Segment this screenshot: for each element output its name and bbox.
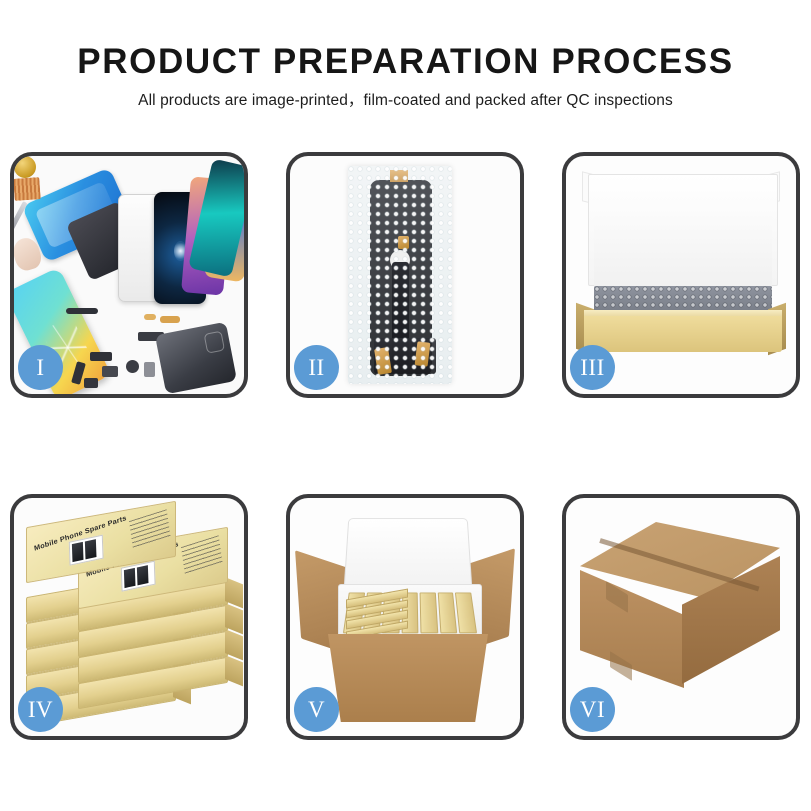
flex-cable-icon	[160, 316, 180, 323]
step-panel-vi: VI	[562, 494, 800, 740]
process-steps-grid: I II	[10, 152, 801, 740]
spec-list-icon	[129, 509, 171, 550]
step-badge-ii: II	[294, 345, 339, 390]
step-panel-i: I	[10, 152, 248, 398]
component-part-icon	[84, 378, 98, 388]
gold-connector-icon	[374, 347, 392, 375]
step-badge-v: V	[294, 687, 339, 732]
step-panel-iii: III	[562, 152, 800, 398]
gold-box-front-icon	[584, 316, 782, 352]
component-part-icon	[90, 352, 112, 361]
step-badge-i: I	[18, 345, 63, 390]
page-subtitle: All products are image-printed，film-coat…	[0, 91, 811, 111]
step-badge-vi: VI	[570, 687, 615, 732]
component-part-icon	[66, 308, 98, 314]
page-title: PRODUCT PREPARATION PROCESS	[0, 42, 811, 82]
spec-list-icon	[181, 535, 223, 576]
gold-connector-icon	[398, 236, 409, 249]
foam-sheet-icon	[594, 214, 772, 290]
carton-body-icon	[328, 634, 488, 722]
gold-connector-icon	[415, 341, 431, 366]
flex-pad-icon	[390, 250, 410, 270]
step-panel-iv: Mobile Phone Spare Parts Mobile Phone Sp…	[10, 494, 248, 740]
tape-strip-icon	[390, 170, 408, 182]
foam-lid-icon	[344, 518, 473, 590]
step-badge-iv: IV	[18, 687, 63, 732]
component-part-icon	[102, 366, 118, 377]
component-part-icon	[144, 362, 155, 377]
flex-cable-icon	[144, 314, 156, 320]
step-badge-iii: III	[570, 345, 615, 390]
box-stack-icon: Mobile Phone Spare Parts Mobile Phone Sp…	[22, 520, 238, 720]
wrapped-screen-assembly-icon	[370, 180, 432, 376]
component-part-icon	[126, 360, 139, 373]
speaker-coil-icon	[14, 156, 36, 178]
flex-cable-icon	[392, 262, 409, 366]
header: PRODUCT PREPARATION PROCESS All products…	[0, 0, 811, 111]
flex-pad-icon	[392, 270, 407, 285]
tweezers-icon	[14, 201, 28, 237]
logic-board-chip-icon	[14, 177, 41, 201]
step-panel-v: V	[286, 494, 524, 740]
step-panel-ii: II	[286, 152, 524, 398]
connector-base-icon	[374, 338, 436, 374]
bubble-wrap-bag-icon	[348, 166, 452, 384]
product-preparation-infographic: PRODUCT PREPARATION PROCESS All products…	[0, 0, 811, 811]
phone-housing-icon	[155, 322, 237, 394]
